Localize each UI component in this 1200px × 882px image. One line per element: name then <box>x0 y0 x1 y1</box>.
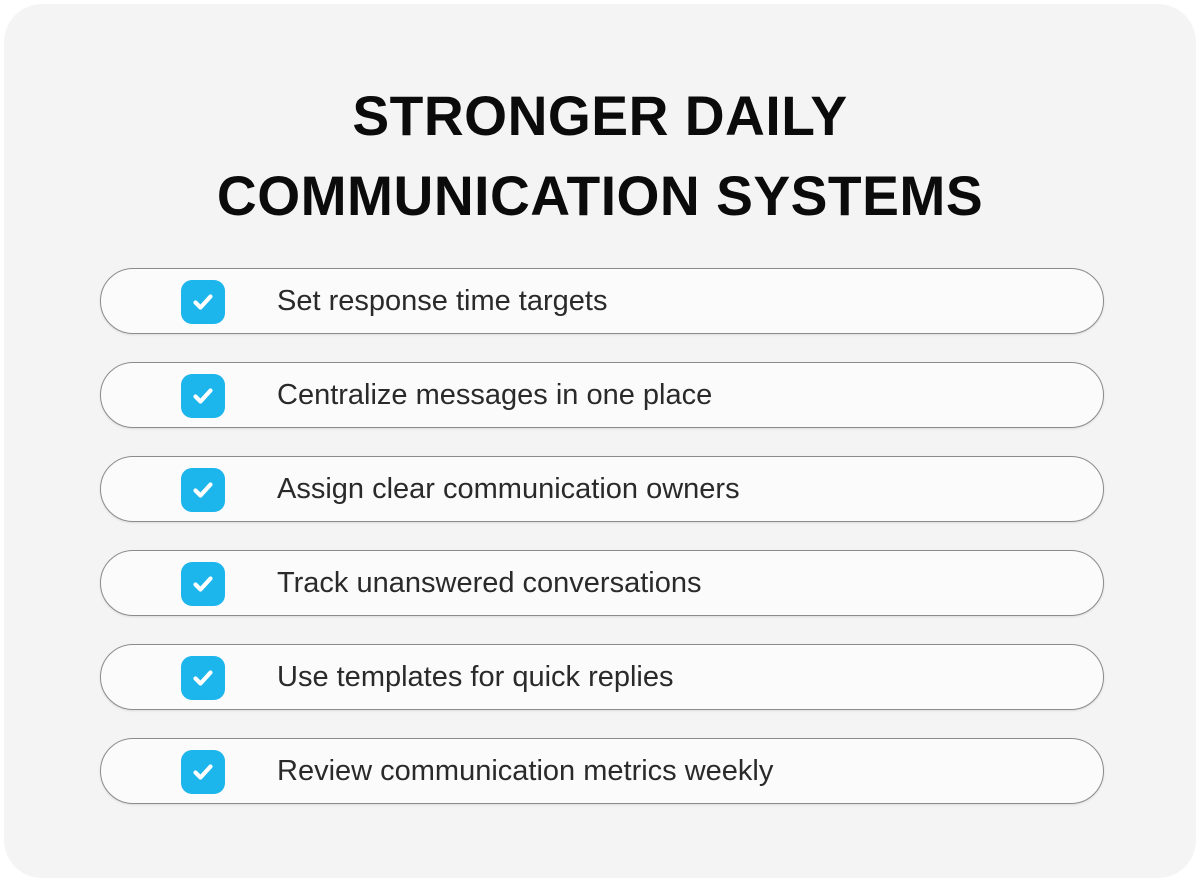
page-title: STRONGER DAILY COMMUNICATION SYSTEMS <box>4 76 1196 236</box>
check-icon <box>189 476 217 504</box>
checkbox-checked[interactable] <box>181 750 225 794</box>
checklist: Set response time targets Centralize mes… <box>100 268 1104 804</box>
list-item[interactable]: Centralize messages in one place <box>100 362 1104 428</box>
check-icon <box>189 288 217 316</box>
list-item[interactable]: Review communication metrics weekly <box>100 738 1104 804</box>
list-item[interactable]: Assign clear communication owners <box>100 456 1104 522</box>
checklist-card: STRONGER DAILY COMMUNICATION SYSTEMS Set… <box>4 4 1196 878</box>
list-item[interactable]: Use templates for quick replies <box>100 644 1104 710</box>
list-item-label: Track unanswered conversations <box>277 566 701 600</box>
list-item-label: Set response time targets <box>277 284 607 318</box>
checkbox-checked[interactable] <box>181 280 225 324</box>
checkbox-checked[interactable] <box>181 656 225 700</box>
check-icon <box>189 382 217 410</box>
list-item[interactable]: Set response time targets <box>100 268 1104 334</box>
page-title-line-2: COMMUNICATION SYSTEMS <box>13 156 1187 236</box>
list-item-label: Assign clear communication owners <box>277 472 740 506</box>
check-icon <box>189 570 217 598</box>
page-title-line-1: STRONGER DAILY <box>13 76 1187 156</box>
list-item[interactable]: Track unanswered conversations <box>100 550 1104 616</box>
check-icon <box>189 758 217 786</box>
checkbox-checked[interactable] <box>181 562 225 606</box>
checkbox-checked[interactable] <box>181 374 225 418</box>
checkbox-checked[interactable] <box>181 468 225 512</box>
list-item-label: Use templates for quick replies <box>277 660 674 694</box>
list-item-label: Review communication metrics weekly <box>277 754 773 788</box>
list-item-label: Centralize messages in one place <box>277 378 712 412</box>
check-icon <box>189 664 217 692</box>
